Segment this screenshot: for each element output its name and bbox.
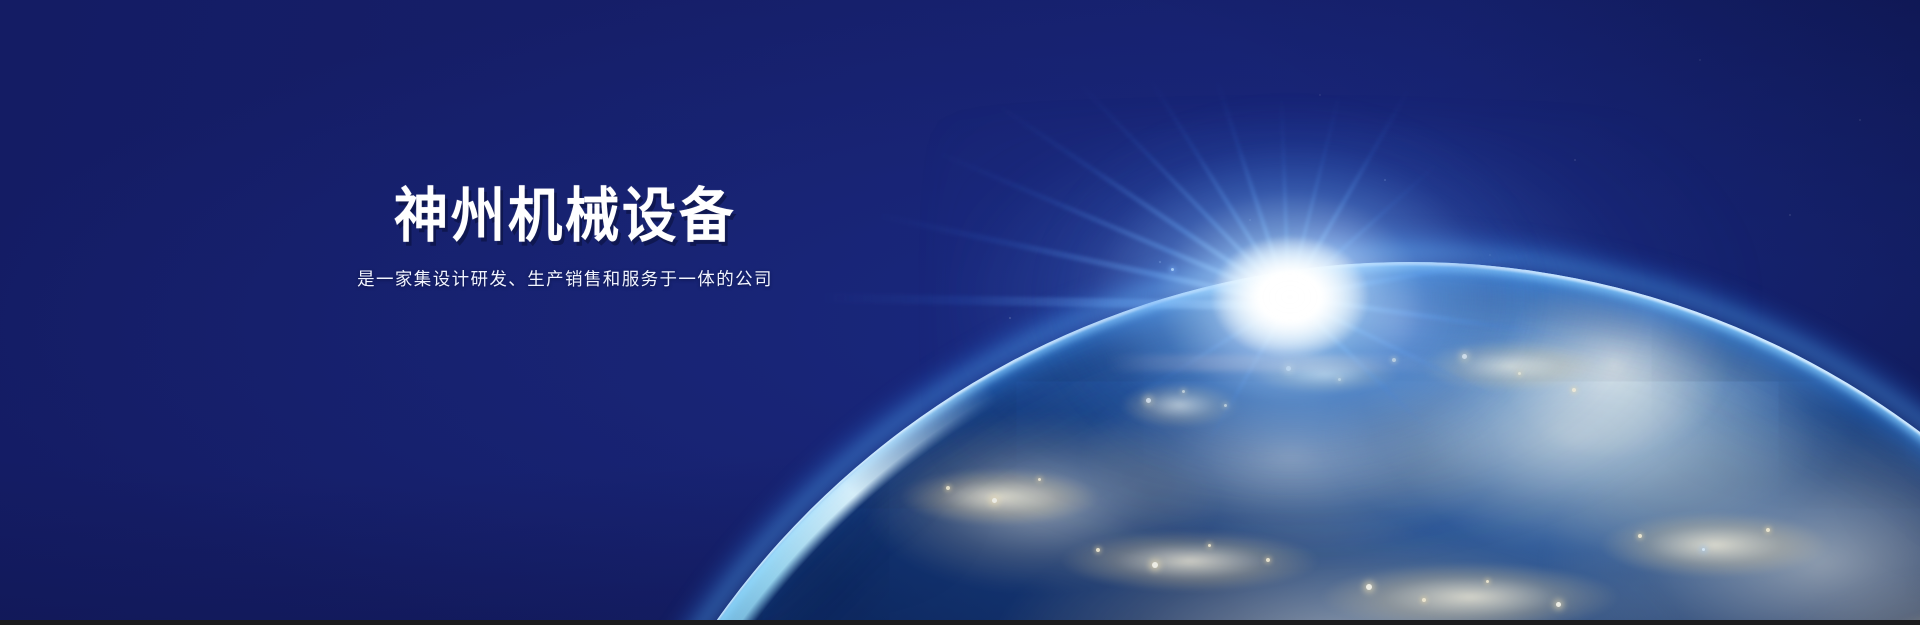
bottom-strip bbox=[0, 620, 1920, 625]
banner-text-block: 神州机械设备 是一家集设计研发、生产销售和服务于一体的公司 bbox=[0, 186, 1130, 291]
banner-subtitle: 是一家集设计研发、生产销售和服务于一体的公司 bbox=[0, 266, 1130, 291]
hero-banner: 神州机械设备 是一家集设计研发、生产销售和服务于一体的公司 bbox=[0, 0, 1920, 625]
page-title: 神州机械设备 bbox=[45, 186, 1085, 246]
